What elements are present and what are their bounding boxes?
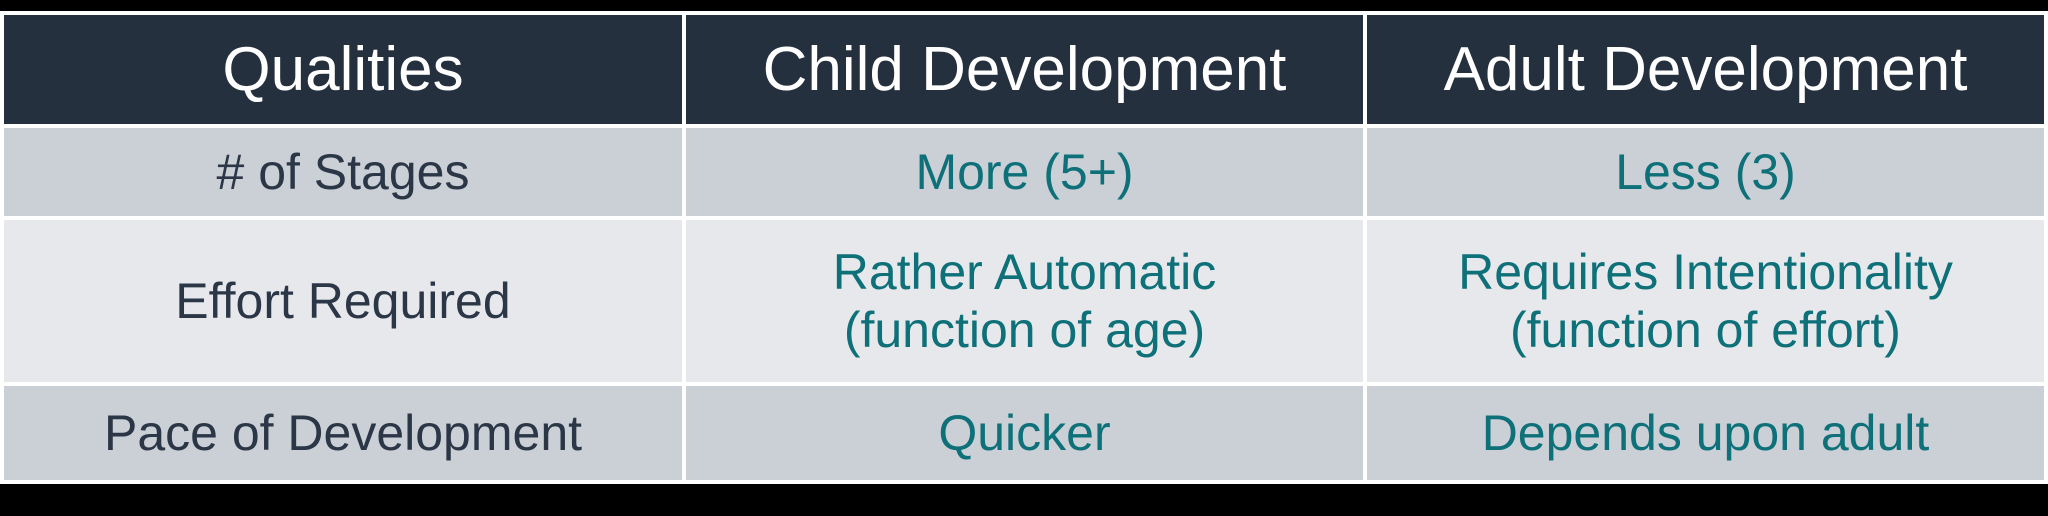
cell-child-pace: Quicker — [686, 386, 1363, 480]
letterbox-bar-top — [0, 0, 2048, 11]
cell-line-1: Requires Intentionality — [1377, 243, 2034, 301]
cell-line-2: (function of effort) — [1377, 301, 2034, 359]
cell-line-1: Less (3) — [1377, 143, 2034, 201]
row-label-effort-required: Effort Required — [4, 220, 682, 383]
row-label-pace-of-development: Pace of Development — [4, 386, 682, 480]
cell-line-1: Rather Automatic — [696, 243, 1353, 301]
column-header-child-development: Child Development — [686, 15, 1363, 124]
column-header-qualities: Qualities — [4, 15, 682, 124]
cell-child-effort: Rather Automatic (function of age) — [686, 220, 1363, 383]
cell-line-1: More (5+) — [696, 143, 1353, 201]
row-label-number-of-stages: # of Stages — [4, 128, 682, 216]
letterbox-bar-bottom — [0, 484, 2048, 516]
cell-line-1: Quicker — [696, 404, 1353, 462]
cell-adult-effort: Requires Intentionality (function of eff… — [1367, 220, 2044, 383]
slide-canvas: Qualities Child Development Adult Develo… — [0, 0, 2048, 516]
table-row: # of Stages More (5+) Less (3) — [4, 128, 2044, 216]
table-header-row: Qualities Child Development Adult Develo… — [4, 15, 2044, 124]
cell-adult-stages: Less (3) — [1367, 128, 2044, 216]
cell-adult-pace: Depends upon adult — [1367, 386, 2044, 480]
cell-child-stages: More (5+) — [686, 128, 1363, 216]
comparison-table-container: Qualities Child Development Adult Develo… — [0, 11, 2048, 484]
table-row: Effort Required Rather Automatic (functi… — [4, 220, 2044, 383]
cell-line-2: (function of age) — [696, 301, 1353, 359]
comparison-table: Qualities Child Development Adult Develo… — [0, 11, 2048, 484]
table-row: Pace of Development Quicker Depends upon… — [4, 386, 2044, 480]
cell-line-1: Depends upon adult — [1377, 404, 2034, 462]
column-header-adult-development: Adult Development — [1367, 15, 2044, 124]
